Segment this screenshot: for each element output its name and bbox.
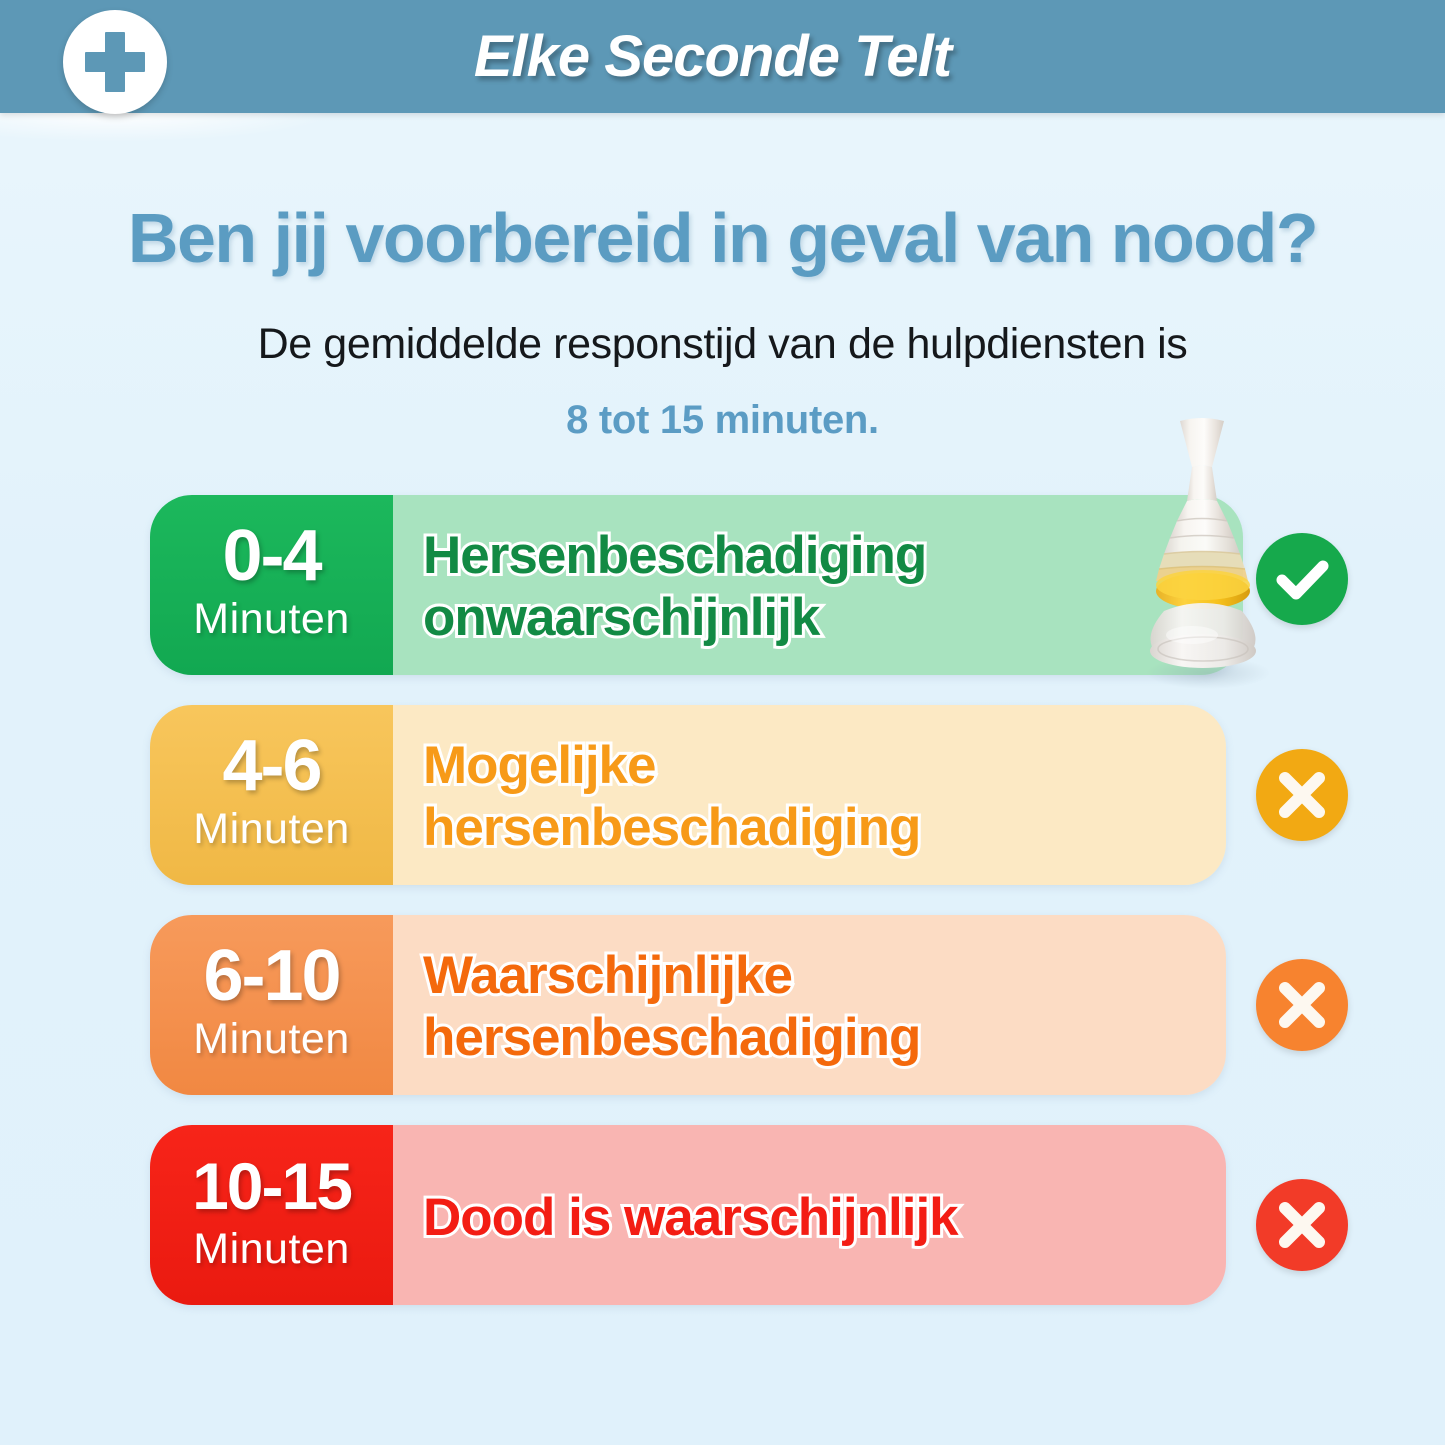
cross-icon [1256,959,1348,1051]
cross-horizontal-bar [85,52,145,72]
timeline-row-message: Dood is waarschijnlijk [423,1187,958,1249]
header-glow [0,113,1445,165]
status-badge-cross [1256,749,1348,841]
timeline-row-unit-label: Minuten [150,1015,393,1063]
timeline-row-range-label: 6-10 [150,939,393,1013]
cross-icon [1256,1179,1348,1271]
status-badge-cross [1256,959,1348,1051]
timeline-row-range-label: 0-4 [150,519,393,593]
timeline-row: 6-10 Minuten Waarschijnlijke hersenbesch… [150,915,1226,1095]
header-bar: Elke Seconde Telt [0,0,1445,113]
timeline-row-message: Hersenbeschadiging onwaarschijnlijk [423,525,926,649]
page-title: Ben jij voorbereid in geval van nood? [0,198,1445,278]
cross-icon [1256,749,1348,841]
timeline-row-message: Mogelijke hersenbeschadiging [423,735,920,859]
check-icon [1256,533,1348,625]
timeline-row-unit-label: Minuten [150,595,393,643]
header-title: Elke Seconde Telt [0,0,1435,113]
timeline-row-range-label: 10-15 [150,1149,393,1223]
timeline-row-range-label: 4-6 [150,729,393,803]
timeline-row: 10-15 Minuten Dood is waarschijnlijk [150,1125,1226,1305]
timeline-row-unit-label: Minuten [150,1225,393,1273]
status-badge-cross [1256,1179,1348,1271]
timeline-row-message: Waarschijnlijke hersenbeschadiging [423,945,920,1069]
timeline-row: 0-4 Minuten Hersenbeschadiging onwaarsch… [150,495,1243,675]
medical-cross-icon [63,10,167,114]
timeline-row: 4-6 Minuten Mogelijke hersenbeschadiging [150,705,1226,885]
subtitle-line-1: De gemiddelde responstijd van de hulpdie… [0,320,1445,369]
timeline-row-unit-label: Minuten [150,805,393,853]
status-badge-check [1256,533,1348,625]
